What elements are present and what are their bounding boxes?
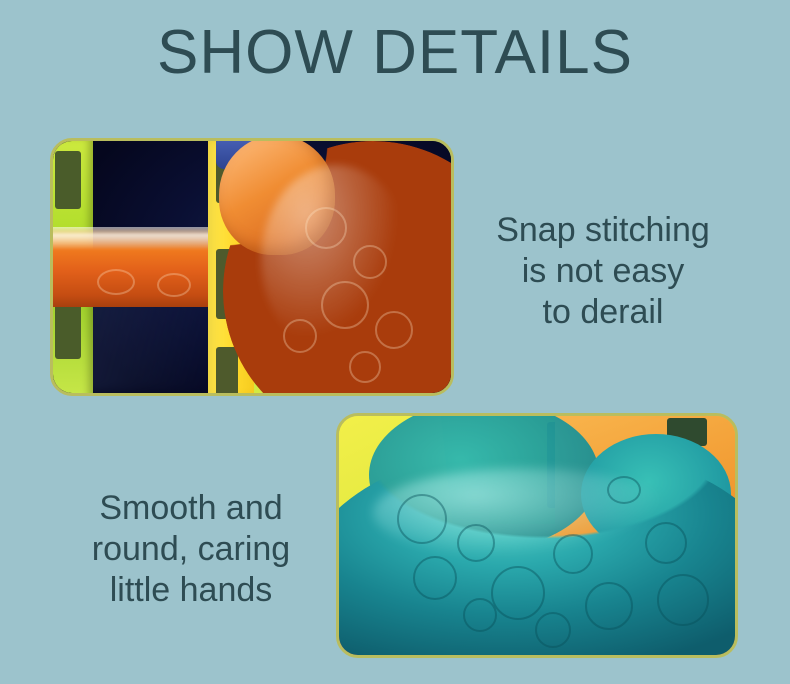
photo-2-swirl-texture [585, 582, 633, 630]
photo-1-tile-left-bar [55, 151, 81, 209]
photo-1-artwork [53, 141, 451, 393]
show-details-page: SHOW DETAILS [0, 0, 790, 684]
photo-1-tile-center-bar [216, 347, 238, 393]
photo-2-swirl-texture [535, 612, 571, 648]
photo-marble-run-teal-u-tube [336, 413, 738, 658]
photo-2-swirl-texture [413, 556, 457, 600]
photo-1-swirl-texture [97, 269, 135, 295]
photo-2-swirl-texture [657, 574, 709, 626]
photo-1-swirl-texture [375, 311, 413, 349]
photo-2-swirl-texture [607, 476, 641, 504]
photo-2-swirl-texture [397, 494, 447, 544]
photo-1-tile-left-bar [55, 301, 81, 359]
photo-1-swirl-texture [349, 351, 381, 383]
photo-2-swirl-texture [457, 524, 495, 562]
caption-smooth-and-round: Smooth and round, caring little hands [32, 488, 350, 611]
photo-1-swirl-texture [305, 207, 347, 249]
caption-snap-stitching: Snap stitching is not easy to derail [455, 210, 751, 333]
photo-2-artwork [339, 416, 735, 655]
photo-1-swirl-texture [321, 281, 369, 329]
photo-1-swirl-texture [283, 319, 317, 353]
photo-2-swirl-texture [645, 522, 687, 564]
photo-1-swirl-texture [353, 245, 387, 279]
photo-2-swirl-texture [463, 598, 497, 632]
photo-2-swirl-texture [553, 534, 593, 574]
photo-2-swirl-texture [491, 566, 545, 620]
page-title: SHOW DETAILS [0, 22, 790, 84]
photo-marble-run-orange-elbow [50, 138, 454, 396]
photo-1-swirl-texture [157, 273, 191, 297]
